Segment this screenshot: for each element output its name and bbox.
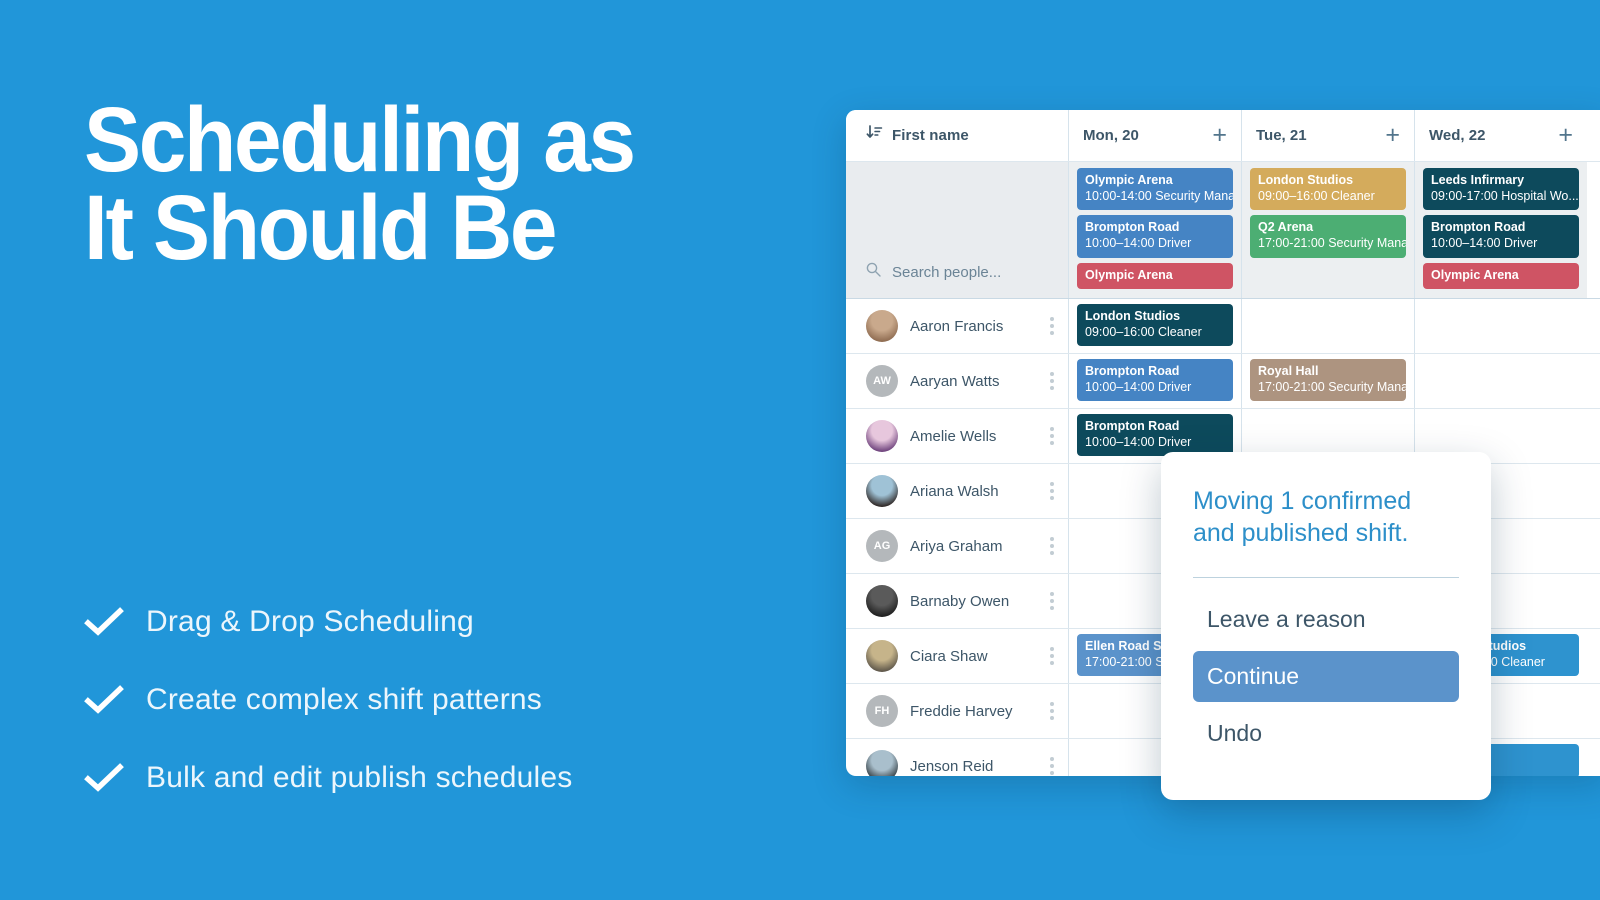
- shift-title: Olympic Arena: [1085, 173, 1225, 189]
- table-row[interactable]: Aaron FrancisLondon Studios09:00–16:00 C…: [846, 299, 1600, 354]
- hero-section: Scheduling as It Should Be: [84, 96, 804, 273]
- feature-list: Drag & Drop Scheduling Create complex sh…: [84, 583, 784, 817]
- feature-label: Drag & Drop Scheduling: [146, 605, 474, 639]
- day-label: Tue, 21: [1256, 127, 1307, 144]
- name-column-header[interactable]: First name: [846, 110, 1068, 161]
- avatar: AW: [866, 365, 898, 397]
- shift-subtitle: 09:00–16:00 Cleaner: [1085, 325, 1225, 341]
- kebab-menu-icon[interactable]: [1050, 372, 1054, 390]
- person-name: Freddie Harvey: [910, 703, 1013, 720]
- leave-a-reason-button[interactable]: Leave a reason: [1193, 594, 1459, 645]
- shift-title: London Studios: [1085, 309, 1225, 325]
- page-title: Scheduling as It Should Be: [84, 96, 754, 273]
- person-name: Barnaby Owen: [910, 593, 1009, 610]
- name-column-label: First name: [892, 127, 969, 144]
- move-shift-dialog: Moving 1 confirmed and published shift. …: [1161, 452, 1491, 800]
- schedule-header-row: First name Mon, 20 + Tue, 21 +: [846, 110, 1600, 162]
- open-shifts-row: Search people... Olympic Arena10:00-14:0…: [846, 162, 1600, 299]
- avatar: AG: [866, 530, 898, 562]
- day-column-header-mon: Mon, 20 +: [1068, 110, 1241, 161]
- shift-cell-tue[interactable]: Royal Hall17:00-21:00 Security Mana...: [1241, 354, 1414, 408]
- feature-label: Bulk and edit publish schedules: [146, 761, 572, 795]
- dialog-title: Moving 1 confirmed and published shift.: [1193, 486, 1459, 549]
- person-name: Amelie Wells: [910, 428, 996, 445]
- kebab-menu-icon[interactable]: [1050, 647, 1054, 665]
- shift-card[interactable]: London Studios09:00–16:00 Cleaner: [1077, 304, 1233, 346]
- person-name: Jenson Reid: [910, 758, 993, 775]
- shift-card[interactable]: Olympic Arena: [1423, 263, 1579, 290]
- feature-item-3: Bulk and edit publish schedules: [84, 739, 784, 817]
- person-cell[interactable]: Ariana Walsh: [846, 464, 1068, 518]
- avatar: [866, 750, 898, 776]
- shift-card[interactable]: Royal Hall17:00-21:00 Security Mana...: [1250, 359, 1406, 401]
- person-cell[interactable]: Jenson Reid: [846, 739, 1068, 776]
- day-column-header-wed: Wed, 22 +: [1414, 110, 1587, 161]
- shift-subtitle: 17:00-21:00 Security Mana...: [1258, 236, 1398, 252]
- plus-icon[interactable]: +: [1212, 123, 1227, 148]
- avatar: [866, 420, 898, 452]
- shift-cell-tue[interactable]: [1241, 299, 1414, 353]
- person-cell[interactable]: Amelie Wells: [846, 409, 1068, 463]
- shift-card[interactable]: Brompton Road10:00–14:00 Driver: [1077, 359, 1233, 401]
- day-column-header-tue: Tue, 21 +: [1241, 110, 1414, 161]
- shift-title: Brompton Road: [1085, 364, 1225, 380]
- person-name: Ariana Walsh: [910, 483, 999, 500]
- person-name: Ciara Shaw: [910, 648, 988, 665]
- kebab-menu-icon[interactable]: [1050, 592, 1054, 610]
- feature-label: Create complex shift patterns: [146, 683, 542, 717]
- shift-card[interactable]: Brompton Road10:00–14:00 Driver: [1077, 414, 1233, 456]
- undo-button[interactable]: Undo: [1193, 708, 1459, 759]
- person-name: Aaron Francis: [910, 318, 1003, 335]
- shift-title: Olympic Arena: [1431, 268, 1571, 284]
- shift-cell-wed[interactable]: [1414, 299, 1587, 353]
- open-shifts-tue[interactable]: London Studios09:00–16:00 CleanerQ2 Aren…: [1241, 162, 1414, 298]
- shift-card[interactable]: Q2 Arena17:00-21:00 Security Mana...: [1250, 215, 1406, 257]
- shift-subtitle: 09:00–16:00 Cleaner: [1258, 189, 1398, 205]
- shift-subtitle: 10:00–14:00 Driver: [1085, 435, 1225, 451]
- shift-subtitle: 10:00–14:00 Driver: [1085, 236, 1225, 252]
- shift-title: Royal Hall: [1258, 364, 1398, 380]
- check-icon: [84, 607, 124, 637]
- shift-cell-wed[interactable]: [1414, 354, 1587, 408]
- shift-card[interactable]: Olympic Arena: [1077, 263, 1233, 290]
- kebab-menu-icon[interactable]: [1050, 757, 1054, 775]
- search-icon: [866, 262, 881, 282]
- shift-title: Olympic Arena: [1085, 268, 1225, 284]
- kebab-menu-icon[interactable]: [1050, 702, 1054, 720]
- dialog-divider: [1193, 577, 1459, 578]
- table-row[interactable]: AWAaryan WattsBrompton Road10:00–14:00 D…: [846, 354, 1600, 409]
- avatar: [866, 310, 898, 342]
- person-name: Aaryan Watts: [910, 373, 999, 390]
- avatar: [866, 475, 898, 507]
- shift-title: London Studios: [1258, 173, 1398, 189]
- shift-title: Brompton Road: [1431, 220, 1571, 236]
- kebab-menu-icon[interactable]: [1050, 482, 1054, 500]
- shift-card[interactable]: London Studios09:00–16:00 Cleaner: [1250, 168, 1406, 210]
- avatar: [866, 585, 898, 617]
- kebab-menu-icon[interactable]: [1050, 317, 1054, 335]
- promo-banner: Scheduling as It Should Be Drag & Drop S…: [0, 0, 1600, 900]
- person-cell[interactable]: Aaron Francis: [846, 299, 1068, 353]
- day-label: Wed, 22: [1429, 127, 1485, 144]
- feature-item-2: Create complex shift patterns: [84, 661, 784, 739]
- search-input[interactable]: Search people...: [892, 264, 1001, 281]
- shift-subtitle: 09:00-17:00 Hospital Wo...: [1431, 189, 1571, 205]
- shift-title: Q2 Arena: [1258, 220, 1398, 236]
- feature-item-1: Drag & Drop Scheduling: [84, 583, 784, 661]
- search-people-cell[interactable]: Search people...: [846, 162, 1068, 298]
- check-icon: [84, 763, 124, 793]
- avatar: [866, 640, 898, 672]
- person-cell[interactable]: FHFreddie Harvey: [846, 684, 1068, 738]
- sort-descending-icon[interactable]: [866, 125, 883, 146]
- shift-title: Brompton Road: [1085, 220, 1225, 236]
- person-name: Ariya Graham: [910, 538, 1003, 555]
- shift-card[interactable]: Brompton Road10:00–14:00 Driver: [1077, 215, 1233, 257]
- shift-subtitle: 10:00–14:00 Driver: [1085, 380, 1225, 396]
- plus-icon[interactable]: +: [1385, 123, 1400, 148]
- check-icon: [84, 685, 124, 715]
- continue-button[interactable]: Continue: [1193, 651, 1459, 702]
- person-cell[interactable]: AGAriya Graham: [846, 519, 1068, 573]
- shift-card[interactable]: Leeds Infirmary09:00-17:00 Hospital Wo..…: [1423, 168, 1579, 210]
- shift-subtitle: 10:00-14:00 Security Mana...: [1085, 189, 1225, 205]
- day-label: Mon, 20: [1083, 127, 1139, 144]
- kebab-menu-icon[interactable]: [1050, 427, 1054, 445]
- shift-cell-mon[interactable]: Brompton Road10:00–14:00 Driver: [1068, 354, 1241, 408]
- shift-title: Brompton Road: [1085, 419, 1225, 435]
- person-cell[interactable]: Ciara Shaw: [846, 629, 1068, 683]
- shift-card[interactable]: Olympic Arena10:00-14:00 Security Mana..…: [1077, 168, 1233, 210]
- shift-card[interactable]: Brompton Road10:00–14:00 Driver: [1423, 215, 1579, 257]
- kebab-menu-icon[interactable]: [1050, 537, 1054, 555]
- plus-icon[interactable]: +: [1558, 123, 1573, 148]
- open-shifts-mon[interactable]: Olympic Arena10:00-14:00 Security Mana..…: [1068, 162, 1241, 298]
- shift-cell-mon[interactable]: London Studios09:00–16:00 Cleaner: [1068, 299, 1241, 353]
- shift-title: Leeds Infirmary: [1431, 173, 1571, 189]
- avatar: FH: [866, 695, 898, 727]
- shift-subtitle: 17:00-21:00 Security Mana...: [1258, 380, 1398, 396]
- shift-subtitle: 10:00–14:00 Driver: [1431, 236, 1571, 252]
- open-shifts-wed[interactable]: Leeds Infirmary09:00-17:00 Hospital Wo..…: [1414, 162, 1587, 298]
- person-cell[interactable]: AWAaryan Watts: [846, 354, 1068, 408]
- person-cell[interactable]: Barnaby Owen: [846, 574, 1068, 628]
